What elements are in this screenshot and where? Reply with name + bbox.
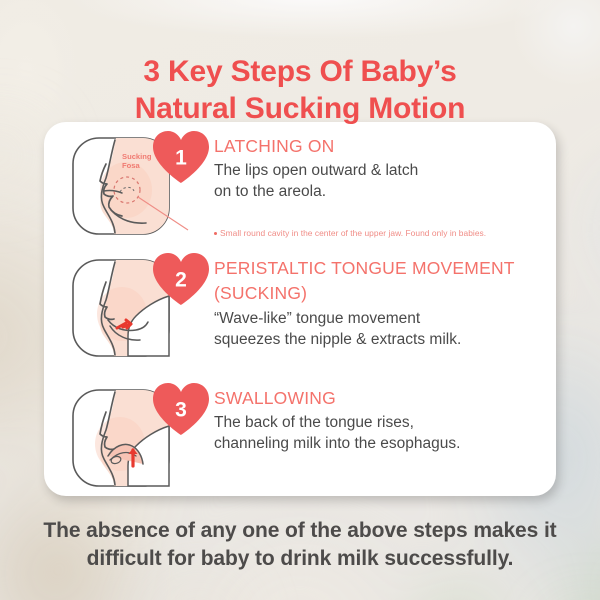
badge-number: 1 bbox=[175, 147, 187, 170]
heart-icon: 3 bbox=[150, 380, 212, 438]
footnote-bullet-icon bbox=[214, 232, 217, 235]
step-3-heading: SWALLOWING bbox=[214, 388, 546, 409]
step-1-badge: 1 bbox=[150, 128, 212, 186]
step-1-heading: LATCHING ON bbox=[214, 136, 546, 157]
step-3-body-line-2: channeling milk into the esophagus. bbox=[214, 434, 546, 455]
step-2-copy: PERISTALTIC TONGUE MOVEMENT (SUCKING) “W… bbox=[214, 258, 546, 351]
step-3-badge: 3 bbox=[150, 380, 212, 438]
sucking-fosa-label-line-2: Fosa bbox=[122, 161, 141, 170]
step-3-copy: SWALLOWING The back of the tongue rises,… bbox=[214, 388, 546, 454]
step-1-footnote: Small round cavity in the center of the … bbox=[214, 228, 486, 238]
step-1-body-line-2: on to the areola. bbox=[214, 182, 546, 203]
page-title-line-2: Natural Sucking Motion bbox=[0, 91, 600, 128]
bottom-caption-line-2: difficult for baby to drink milk success… bbox=[22, 545, 578, 573]
badge-number: 2 bbox=[175, 269, 187, 292]
steps-card: Sucking Fosa 1 LATCHING ON The lips open… bbox=[44, 122, 556, 496]
sucking-fosa-label-line-1: Sucking bbox=[122, 152, 152, 161]
page-title-line-1: 3 Key Steps Of Baby’s bbox=[0, 54, 600, 91]
bottom-caption-line-1: The absence of any one of the above step… bbox=[22, 517, 578, 545]
heart-icon: 2 bbox=[150, 250, 212, 308]
step-2-heading-line-2: (SUCKING) bbox=[214, 283, 546, 304]
heart-icon: 1 bbox=[150, 128, 212, 186]
step-1-footnote-text: Small round cavity in the center of the … bbox=[220, 228, 486, 238]
step-2-body-line-1: “Wave-like” tongue movement bbox=[214, 309, 546, 330]
page-title: 3 Key Steps Of Baby’s Natural Sucking Mo… bbox=[0, 54, 600, 128]
badge-number: 3 bbox=[175, 399, 187, 422]
step-2-heading-line-1: PERISTALTIC TONGUE MOVEMENT bbox=[214, 258, 546, 279]
bottom-caption: The absence of any one of the above step… bbox=[22, 517, 578, 572]
step-1-copy: LATCHING ON The lips open outward & latc… bbox=[214, 136, 546, 202]
step-1-body-line-1: The lips open outward & latch bbox=[214, 161, 546, 182]
step-2-badge: 2 bbox=[150, 250, 212, 308]
step-3-body-line-1: The back of the tongue rises, bbox=[214, 413, 546, 434]
step-2-body-line-2: squeezes the nipple & extracts milk. bbox=[214, 330, 546, 351]
